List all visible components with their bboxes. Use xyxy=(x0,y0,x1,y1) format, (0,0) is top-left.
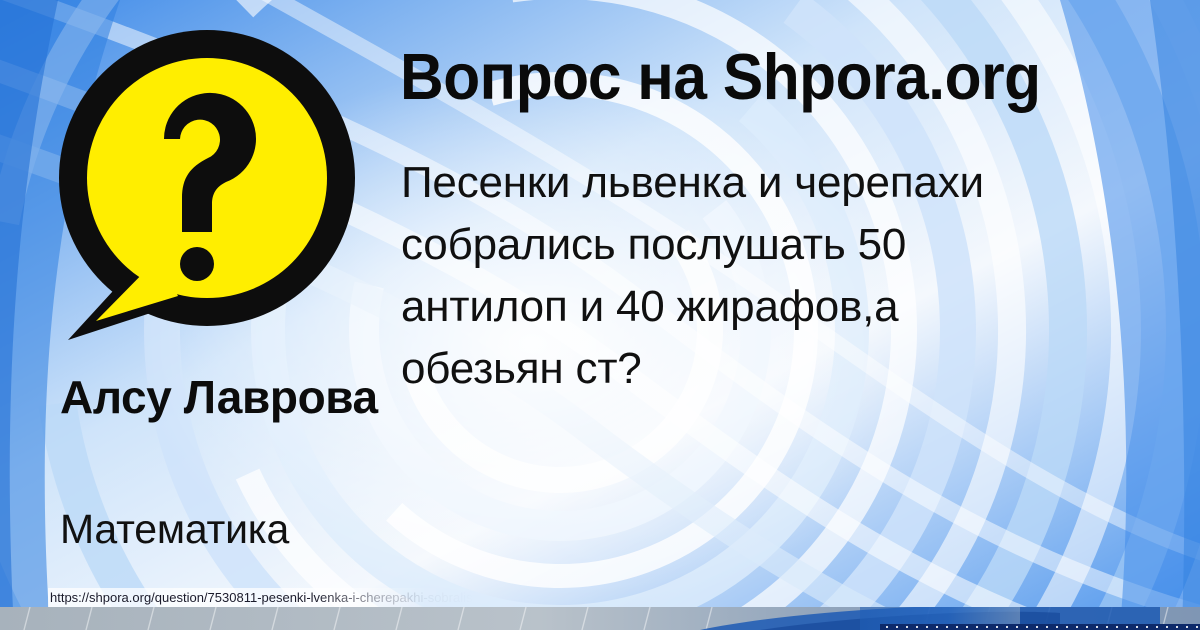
subject-label: Математика xyxy=(60,505,289,553)
question-speech-bubble-icon xyxy=(52,18,362,348)
author-name: Алсу Лаврова xyxy=(60,372,390,422)
question-url[interactable]: https://shpora.org/question/7530811-pese… xyxy=(48,588,640,608)
url-overlay: https://shpora.org/question/7530811-pese… xyxy=(0,588,1200,608)
page-title: Вопрос на Shpora.org xyxy=(400,44,1041,109)
question-share-card: Вопрос на Shpora.org Песенки львенка и ч… xyxy=(0,0,1200,630)
bottom-banner-strip xyxy=(0,607,1200,630)
question-text: Песенки львенка и черепахи собрались пос… xyxy=(401,152,1061,400)
